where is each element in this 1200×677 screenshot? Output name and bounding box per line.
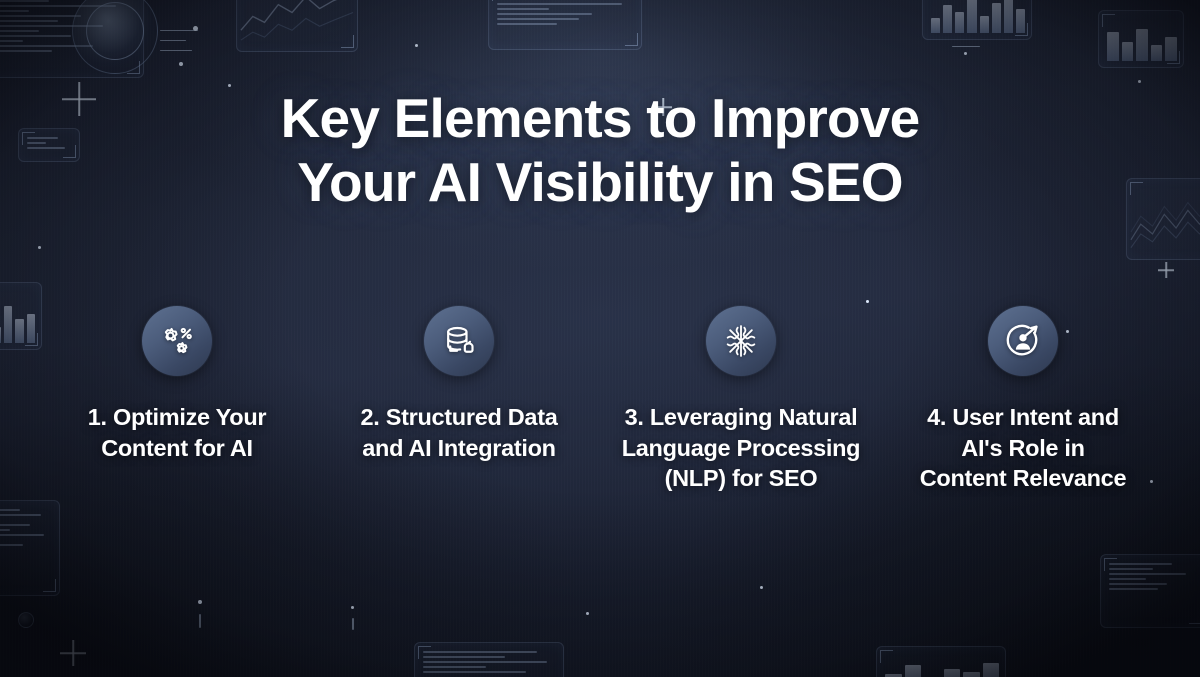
title-line-1: Key Elements to Improve [0, 86, 1200, 150]
list-item-optimize-content[interactable]: 1. Optimize Your Content for AI [36, 306, 318, 463]
list-item-label: 3. Leveraging Natural Language Processin… [622, 402, 861, 494]
neural-network-node-icon [721, 321, 761, 361]
list-item-nlp[interactable]: 3. Leveraging Natural Language Processin… [600, 306, 882, 494]
database-stack-icon [439, 321, 479, 361]
icon-badge [706, 306, 776, 376]
list-item-label: 1. Optimize Your Content for AI [88, 402, 266, 463]
page-title: Key Elements to Improve Your AI Visibili… [0, 86, 1200, 215]
list-item-label: 2. Structured Data and AI Integration [360, 402, 557, 463]
key-elements-list: 1. Optimize Your Content for AI 2. Stru [0, 306, 1200, 494]
list-item-user-intent[interactable]: 4. User Intent and AI's Role in Content … [882, 306, 1164, 494]
slide-canvas: Key Elements to Improve Your AI Visibili… [0, 0, 1200, 677]
user-target-arrow-icon [1003, 321, 1043, 361]
gears-percent-icon [157, 321, 197, 361]
slide-content: Key Elements to Improve Your AI Visibili… [0, 0, 1200, 677]
list-item-structured-data[interactable]: 2. Structured Data and AI Integration [318, 306, 600, 463]
list-item-label: 4. User Intent and AI's Role in Content … [920, 402, 1126, 494]
icon-badge [142, 306, 212, 376]
icon-badge [424, 306, 494, 376]
title-line-2: Your AI Visibility in SEO [0, 150, 1200, 214]
icon-badge [988, 306, 1058, 376]
